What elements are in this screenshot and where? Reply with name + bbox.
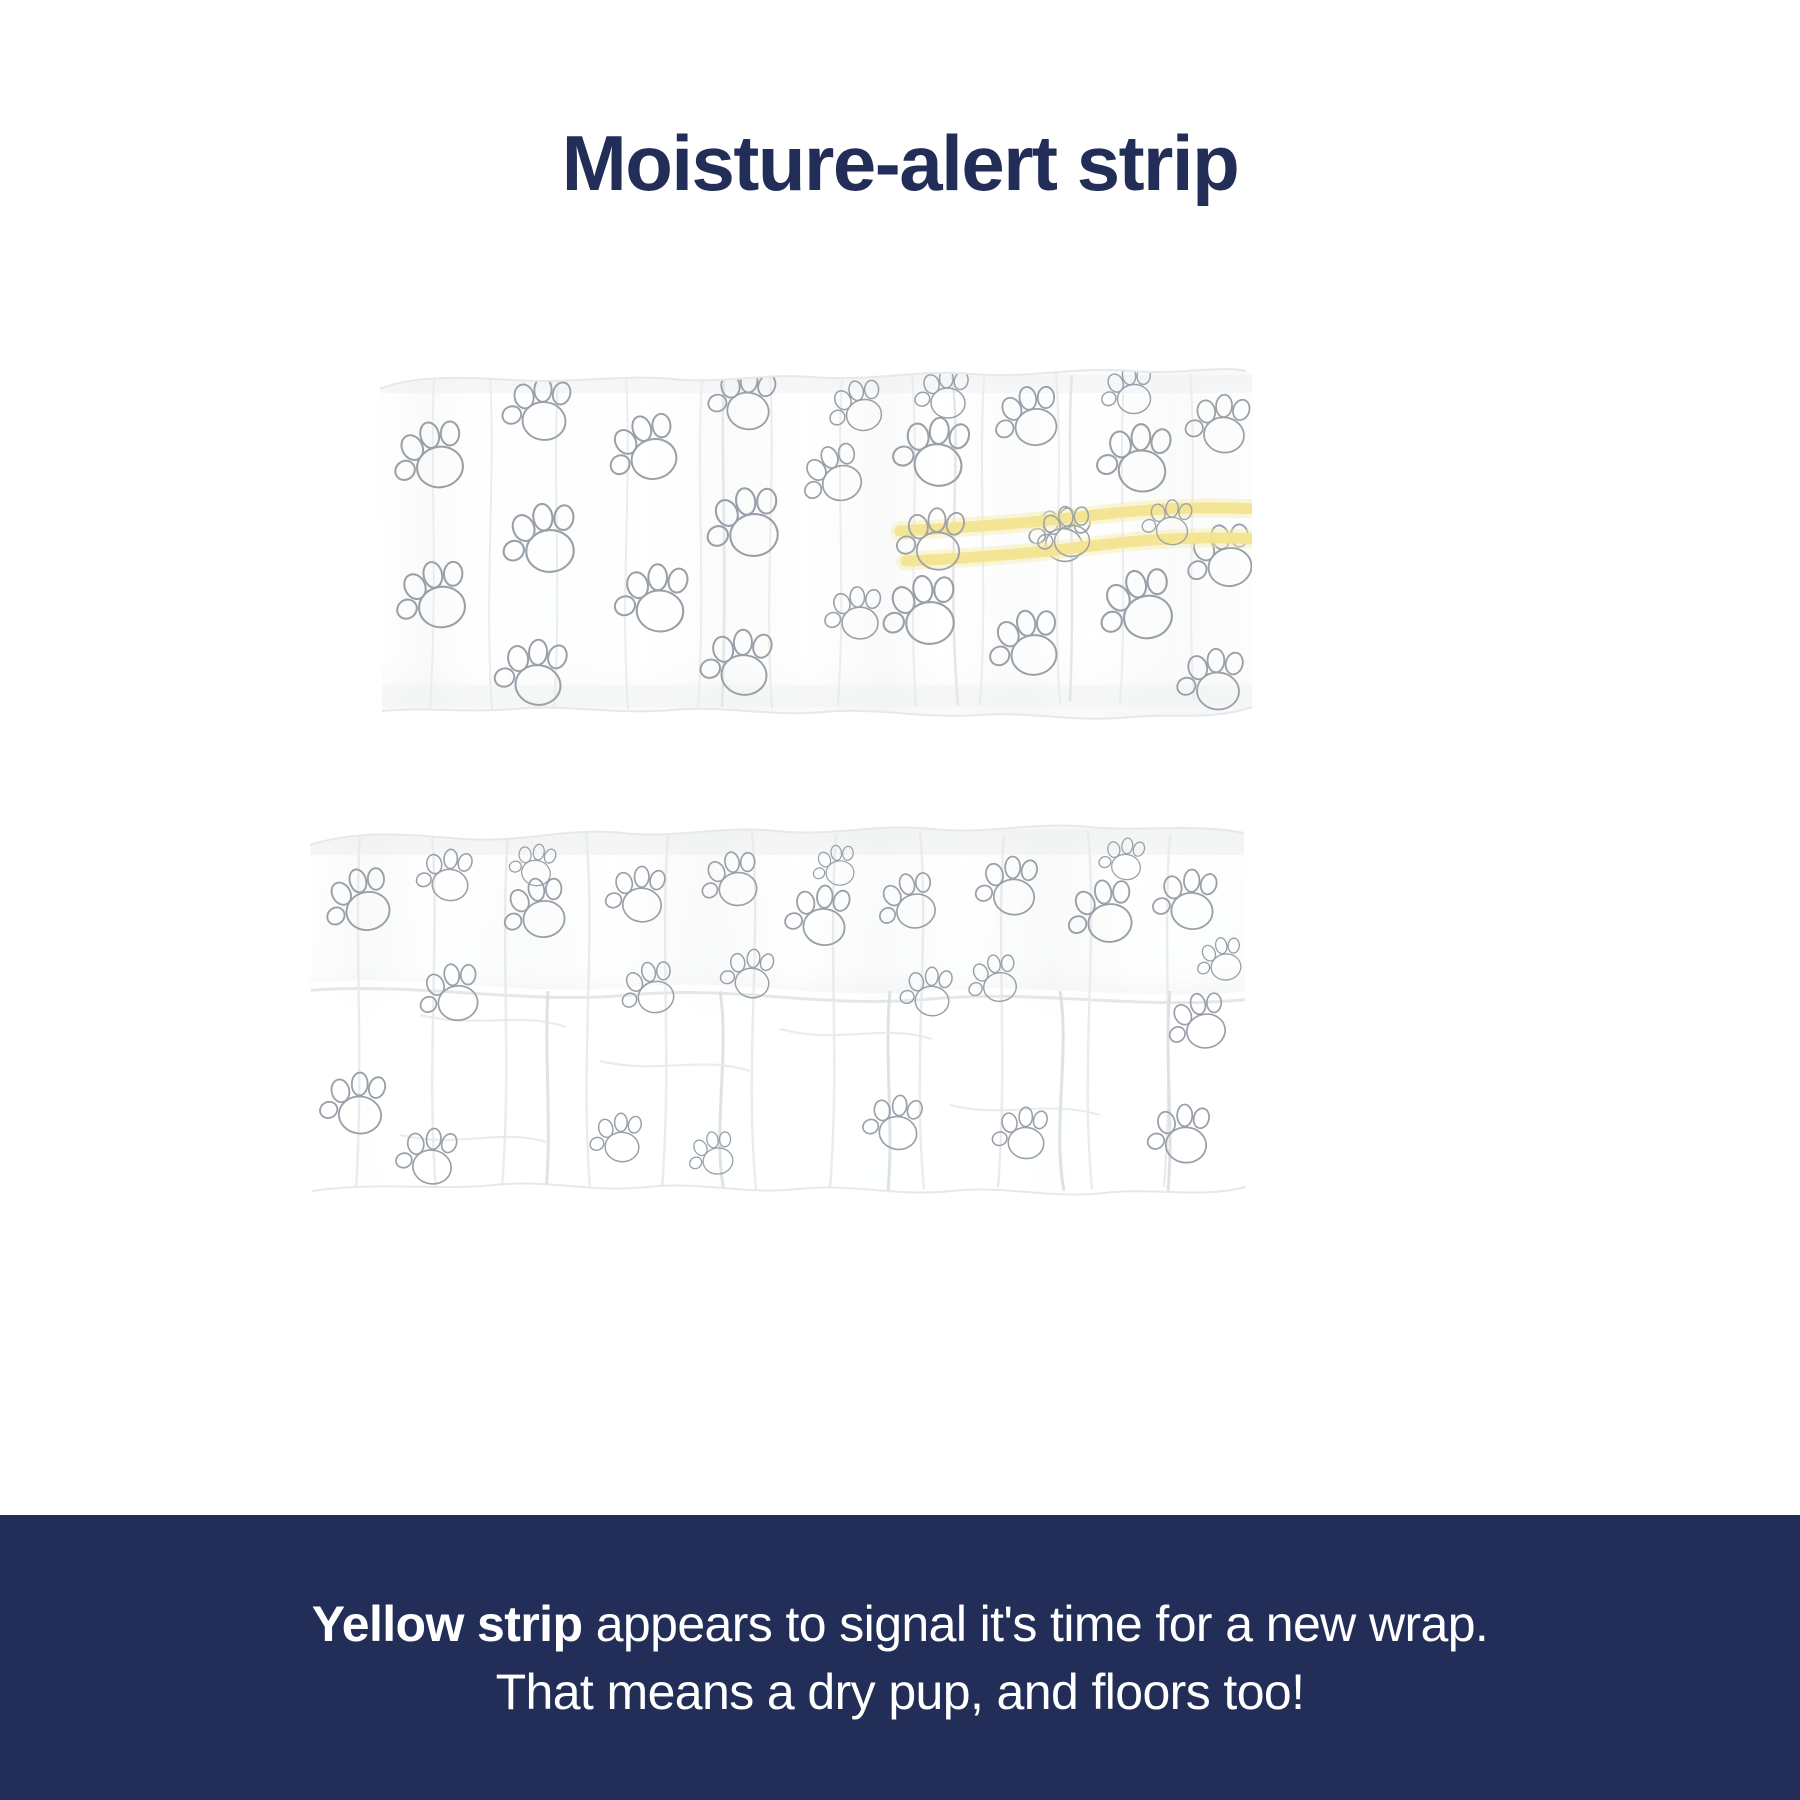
- dog-wrap-without-strip: [300, 815, 1252, 1207]
- dog-wrap-with-yellow-strip: [372, 355, 1258, 733]
- caption-line-1: Yellow strip appears to signal it's time…: [312, 1590, 1488, 1658]
- title-area: Moisture-alert strip: [0, 0, 1800, 330]
- caption-highlight: Yellow strip: [312, 1596, 583, 1652]
- caption-banner: Yellow strip appears to signal it's time…: [0, 1515, 1800, 1800]
- caption-line-2: That means a dry pup, and floors too!: [496, 1658, 1305, 1726]
- page-title: Moisture-alert strip: [562, 124, 1238, 202]
- caption-line-1-rest: appears to signal it's time for a new wr…: [582, 1596, 1488, 1652]
- product-stage: [0, 330, 1800, 1515]
- infographic-root: Moisture-alert strip: [0, 0, 1800, 1800]
